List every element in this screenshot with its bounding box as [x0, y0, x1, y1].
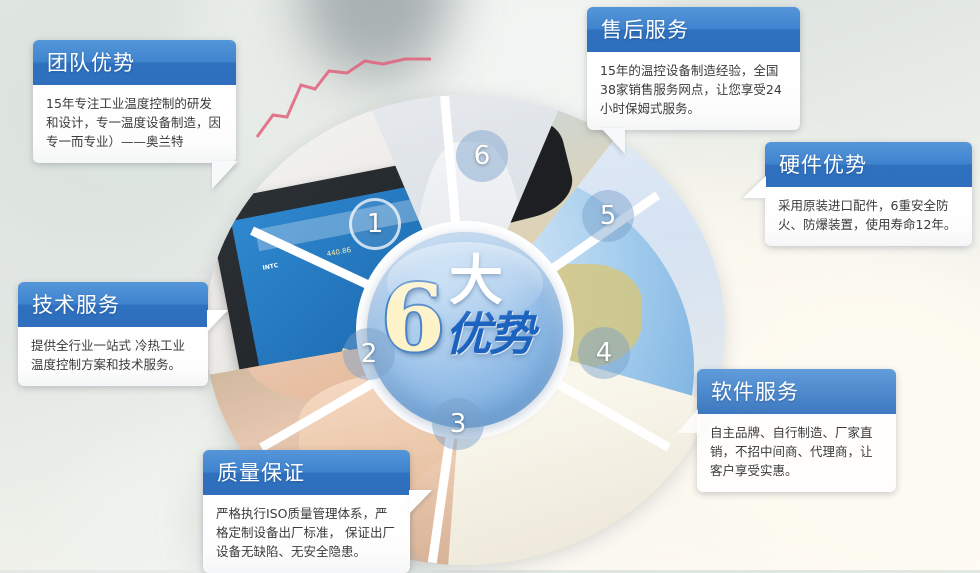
marker-5-label: 5	[600, 201, 617, 231]
marker-5[interactable]: 5	[582, 190, 634, 242]
card-after-sales-title: 售后服务	[587, 7, 800, 52]
card-quality-body: 严格执行ISO质量管理体系，严格定制设备出厂标准， 保证出厂设备无缺陷、无安全隐…	[203, 495, 410, 573]
marker-2-label: 2	[361, 339, 378, 369]
center-big-char: 大	[449, 254, 503, 308]
card-quality-assurance[interactable]: 质量保证 严格执行ISO质量管理体系，严格定制设备出厂标准， 保证出厂设备无缺陷…	[203, 450, 410, 573]
marker-1[interactable]: 1	[349, 198, 401, 250]
marker-3[interactable]: 3	[432, 398, 484, 450]
tablet-value: 440.86	[326, 245, 352, 258]
card-hardware-tail	[743, 176, 766, 198]
marker-6[interactable]: 6	[456, 130, 508, 182]
marker-2[interactable]: 2	[343, 328, 395, 380]
card-quality-title: 质量保证	[203, 450, 410, 495]
card-after-sales[interactable]: 售后服务 15年的温控设备制造经验，全国38家销售服务网点，让您享受24小时保姆…	[587, 7, 800, 130]
card-team-advantage[interactable]: 团队优势 15年专注工业温度控制的研发和设计，专一温度设备制造，因专一而专业）—…	[33, 40, 236, 163]
card-software-body: 自主品牌、自行制造、厂家直销，不招中间商、代理商，让客户享受实惠。	[697, 414, 896, 492]
card-after-sales-tail	[601, 128, 625, 154]
card-hardware-advantage[interactable]: 硬件优势 采用原装进口配件，6重安全防火、防爆装置，使用寿命12年。	[765, 142, 972, 246]
marker-6-label: 6	[474, 141, 491, 171]
center-script-text: 优势	[445, 310, 533, 358]
marker-3-label: 3	[450, 409, 467, 439]
card-quality-tail	[409, 490, 432, 514]
card-technical-tail	[207, 310, 228, 332]
card-team-body: 15年专注工业温度控制的研发和设计，专一温度设备制造，因专一而专业）——奥兰特	[33, 85, 236, 163]
marker-1-label: 1	[367, 209, 384, 239]
card-hardware-title: 硬件优势	[765, 142, 972, 187]
card-team-title: 团队优势	[33, 40, 236, 85]
marker-4[interactable]: 4	[578, 327, 630, 379]
card-software-title: 软件服务	[697, 369, 896, 414]
marker-4-label: 4	[596, 338, 613, 368]
card-technical-body: 提供全行业一站式 冷热工业温度控制方案和技术服务。	[18, 327, 208, 386]
tablet-brand: INTC	[262, 262, 279, 272]
card-software-service[interactable]: 软件服务 自主品牌、自行制造、厂家直销，不招中间商、代理商，让客户享受实惠。	[697, 369, 896, 492]
card-technical-title: 技术服务	[18, 282, 208, 327]
card-technical-service[interactable]: 技术服务 提供全行业一站式 冷热工业温度控制方案和技术服务。	[18, 282, 208, 386]
card-after-sales-body: 15年的温控设备制造经验，全国38家销售服务网点，让您享受24小时保姆式服务。	[587, 52, 800, 130]
card-software-tail	[677, 409, 698, 433]
card-hardware-body: 采用原装进口配件，6重安全防火、防爆装置，使用寿命12年。	[765, 187, 972, 246]
card-team-tail	[212, 161, 238, 189]
